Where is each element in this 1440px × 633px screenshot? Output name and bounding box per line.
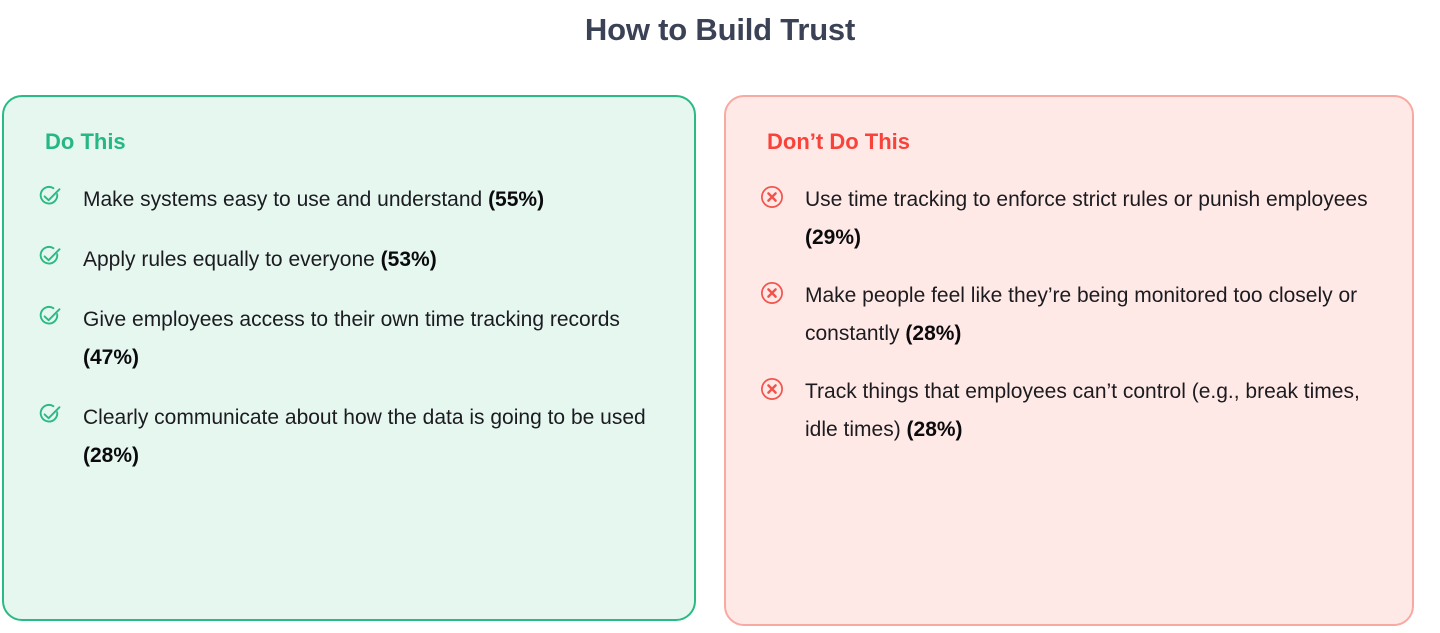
do-this-card: Do This Make systems easy to use and und… xyxy=(2,95,696,621)
list-item: Give employees access to their own time … xyxy=(38,301,668,377)
list-item-label: Apply rules equally to everyone xyxy=(83,248,381,271)
x-circle-icon xyxy=(760,377,784,401)
page-title: How to Build Trust xyxy=(0,0,1440,50)
check-circle-icon xyxy=(38,403,62,427)
list-item: Clearly communicate about how the data i… xyxy=(38,399,668,475)
list-item-text: Give employees access to their own time … xyxy=(83,301,648,377)
dont-do-this-heading: Don’t Do This xyxy=(767,129,1386,155)
x-circle-icon xyxy=(760,185,784,209)
check-circle-icon xyxy=(38,245,62,269)
list-item-percent: (53%) xyxy=(381,248,437,271)
cards-container: Do This Make systems easy to use and und… xyxy=(2,95,1438,626)
list-item-text: Apply rules equally to everyone (53%) xyxy=(83,241,437,279)
list-item: Track things that employees can’t contro… xyxy=(760,373,1386,449)
do-this-list: Make systems easy to use and understand … xyxy=(38,181,668,475)
x-circle-icon xyxy=(760,281,784,305)
infographic-page: How to Build Trust Do This Make systems … xyxy=(0,0,1440,633)
list-item-label: Make people feel like they’re being moni… xyxy=(805,284,1357,345)
list-item-label: Clearly communicate about how the data i… xyxy=(83,406,646,429)
list-item: Apply rules equally to everyone (53%) xyxy=(38,241,668,279)
list-item-percent: (28%) xyxy=(907,418,963,441)
list-item: Use time tracking to enforce strict rule… xyxy=(760,181,1386,257)
check-circle-icon xyxy=(38,185,62,209)
dont-do-this-card: Don’t Do This Use time tracking to enfor… xyxy=(724,95,1414,626)
check-circle-icon xyxy=(38,305,62,329)
list-item-text: Use time tracking to enforce strict rule… xyxy=(805,181,1386,257)
list-item-text: Track things that employees can’t contro… xyxy=(805,373,1386,449)
list-item-percent: (47%) xyxy=(83,346,139,369)
list-item: Make systems easy to use and understand … xyxy=(38,181,668,219)
dont-do-this-list: Use time tracking to enforce strict rule… xyxy=(760,181,1386,449)
list-item-text: Make systems easy to use and understand … xyxy=(83,181,544,219)
list-item-label: Make systems easy to use and understand xyxy=(83,188,488,211)
list-item-percent: (28%) xyxy=(83,444,139,467)
list-item-percent: (55%) xyxy=(488,188,544,211)
list-item-label: Give employees access to their own time … xyxy=(83,308,620,331)
list-item-percent: (29%) xyxy=(805,226,861,249)
list-item-label: Use time tracking to enforce strict rule… xyxy=(805,188,1368,211)
list-item: Make people feel like they’re being moni… xyxy=(760,277,1386,353)
list-item-percent: (28%) xyxy=(905,322,961,345)
do-this-heading: Do This xyxy=(45,129,668,155)
list-item-text: Make people feel like they’re being moni… xyxy=(805,277,1386,353)
list-item-label: Track things that employees can’t contro… xyxy=(805,380,1360,441)
list-item-text: Clearly communicate about how the data i… xyxy=(83,399,648,475)
